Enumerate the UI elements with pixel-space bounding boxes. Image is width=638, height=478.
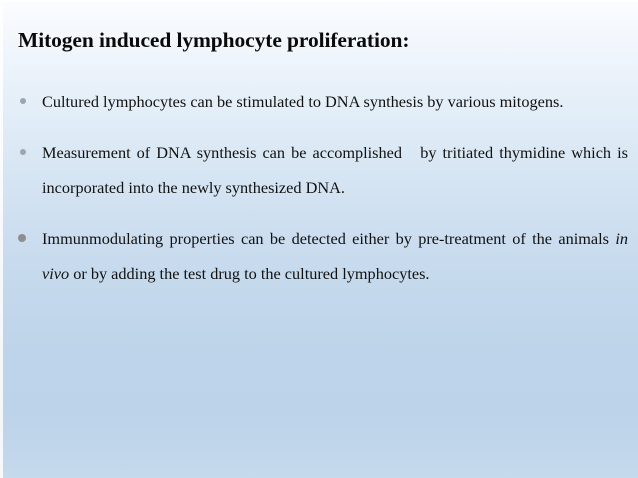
list-item-text: Measurement of DNA synthesis can be acco… — [42, 135, 628, 205]
presentation-slide: Mitogen induced lymphocyte proliferation… — [0, 0, 638, 478]
slide-title: Mitogen induced lymphocyte proliferation… — [18, 27, 618, 53]
list-item-text-gap — [402, 143, 420, 162]
list-item-text-segment-1: Measurement of DNA synthesis can be acco… — [42, 143, 402, 162]
bullet-dot-icon — [20, 98, 26, 104]
list-item: Cultured lymphocytes can be stimulated t… — [14, 84, 628, 119]
bullet-list: Cultured lymphocytes can be stimulated t… — [14, 84, 628, 291]
list-item-text: Cultured lymphocytes can be stimulated t… — [42, 84, 628, 119]
list-item-text: Immunmodulating properties can be detect… — [42, 221, 628, 291]
list-item-text-segment-1: Immunmodulating properties can be detect… — [42, 229, 615, 248]
list-item-text-segment-2: or by adding the test drug to the cultur… — [69, 264, 429, 283]
bullet-dot-icon — [18, 234, 26, 242]
list-item: Measurement of DNA synthesis can be acco… — [14, 135, 628, 205]
bullet-dot-icon — [20, 149, 26, 155]
list-item: Immunmodulating properties can be detect… — [14, 221, 628, 291]
